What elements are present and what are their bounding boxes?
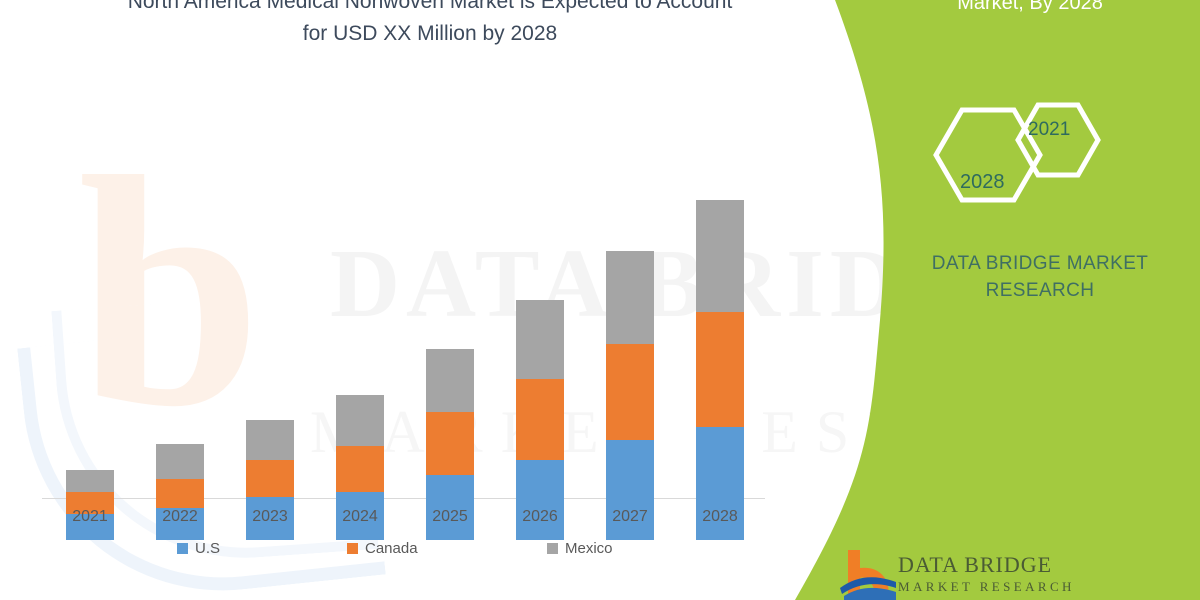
legend-item-mexico[interactable]: Mexico — [547, 540, 613, 557]
hexagon-group: 2028 2021 — [900, 85, 1180, 225]
bar-group — [156, 42, 204, 540]
legend-item-canada[interactable]: Canada — [347, 540, 418, 557]
bar-segment-canada — [156, 479, 204, 508]
bar-segment-canada — [516, 379, 564, 460]
logo-text-secondary: MARKET RESEARCH — [898, 579, 1075, 595]
x-tick-2024: 2024 — [320, 508, 400, 526]
bar-group — [606, 42, 654, 540]
bar-segment-canada — [606, 344, 654, 440]
x-tick-2025: 2025 — [410, 508, 490, 526]
bar-group — [336, 42, 384, 540]
company-logo: DATA BRIDGE MARKET RESEARCH — [838, 548, 1188, 600]
hexagon-shapes — [900, 85, 1180, 225]
legend-swatch-icon — [177, 543, 188, 554]
x-tick-2022: 2022 — [140, 508, 220, 526]
bar-segment-canada — [696, 312, 744, 427]
bar-segment-mexico — [66, 470, 114, 492]
bar-segment-mexico — [246, 420, 294, 460]
hexagon-2028-label: 2028 — [960, 171, 1005, 194]
chart-canvas: b DATA BRIDGE MARKET RESEARCH North Amer… — [0, 0, 1200, 600]
legend-swatch-icon — [347, 543, 358, 554]
bar-segment-mexico — [516, 300, 564, 379]
bar-segment-mexico — [426, 349, 474, 412]
x-tick-2026: 2026 — [500, 508, 580, 526]
legend-item-us[interactable]: U.S — [177, 540, 220, 557]
plot-area: 20212022202320242025202620272028 U.SCana… — [0, 0, 800, 540]
bar-group — [696, 42, 744, 540]
bar-group — [426, 42, 474, 540]
legend-label: Mexico — [565, 540, 613, 557]
x-axis-line — [42, 498, 765, 499]
bar-segment-us — [516, 460, 564, 540]
bar-group — [516, 42, 564, 540]
bar-group — [246, 42, 294, 540]
x-tick-2028: 2028 — [680, 508, 760, 526]
x-tick-2021: 2021 — [50, 508, 130, 526]
legend-swatch-icon — [547, 543, 558, 554]
brand-line-2: RESEARCH — [890, 277, 1190, 304]
logo-bridge-icon — [838, 548, 898, 600]
hexagon-2021-label: 2021 — [1028, 119, 1070, 141]
brand-line-1: DATA BRIDGE MARKET — [890, 250, 1190, 277]
bar-segment-mexico — [156, 444, 204, 479]
logo-text-primary: DATA BRIDGE — [898, 552, 1052, 578]
x-tick-2027: 2027 — [590, 508, 670, 526]
bar-segment-canada — [246, 460, 294, 497]
x-tick-2023: 2023 — [230, 508, 310, 526]
brand-block: DATA BRIDGE MARKET RESEARCH — [890, 250, 1190, 304]
chart-legend: U.SCanadaMexico — [42, 540, 765, 564]
bar-segment-mexico — [336, 395, 384, 446]
legend-label: U.S — [195, 540, 220, 557]
bar-segment-canada — [336, 446, 384, 492]
bar-segment-mexico — [606, 251, 654, 344]
legend-label: Canada — [365, 540, 418, 557]
bar-segment-mexico — [696, 200, 744, 312]
panel-title: Market, By 2028 — [880, 0, 1180, 18]
bar-group — [66, 42, 114, 540]
bar-segment-canada — [426, 412, 474, 475]
